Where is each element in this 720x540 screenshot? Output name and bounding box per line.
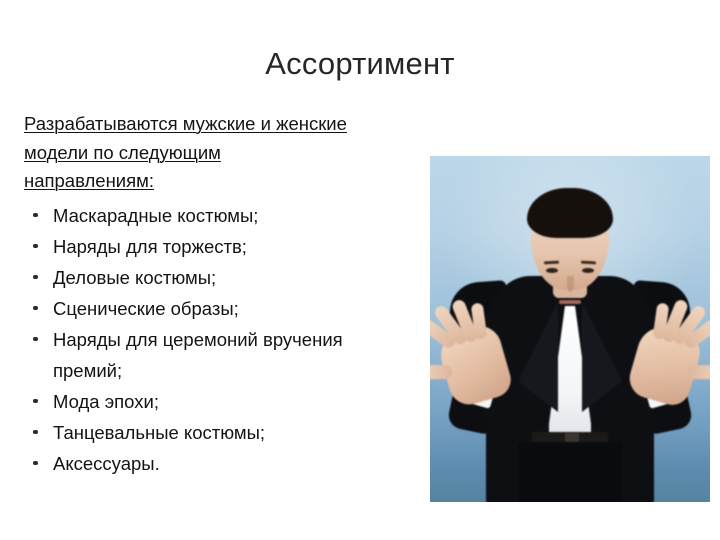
list-item-label: Танцевальные костюмы; — [53, 422, 265, 443]
photo-subject-man — [430, 156, 710, 502]
list-item-label: Сценические образы; — [53, 298, 239, 319]
subject-eye-right — [582, 268, 594, 273]
subject-mouth — [559, 300, 581, 304]
list-item: Деловые костюмы; — [24, 262, 448, 293]
list-item-label: Наряды для церемоний вручения — [53, 329, 343, 350]
subject-eyebrow-left — [544, 261, 559, 265]
subject-thumb — [430, 365, 452, 379]
presentation-slide: Ассортимент Разрабатываются мужские и же… — [0, 0, 720, 540]
list-item-label-wrap: премий; — [53, 355, 448, 386]
list-item-label: Наряды для торжеств; — [53, 236, 247, 257]
intro-line-1: Разрабатываются мужские и женские — [24, 110, 448, 139]
subject-thumb — [688, 365, 710, 379]
list-item: Маскарадные костюмы; — [24, 200, 448, 231]
assortment-bullet-list: Маскарадные костюмы; Наряды для торжеств… — [24, 200, 448, 479]
subject-hair — [527, 188, 613, 238]
subject-nose — [567, 276, 574, 292]
page-title: Ассортимент — [0, 46, 720, 82]
slide-body-column: Разрабатываются мужские и женские модели… — [24, 110, 448, 479]
subject-eyebrow-right — [581, 261, 596, 265]
list-item: Танцевальные костюмы; — [24, 417, 448, 448]
list-item: Наряды для торжеств; — [24, 231, 448, 262]
list-item-label: Деловые костюмы; — [53, 267, 216, 288]
intro-line-3: направлениям: — [24, 167, 448, 196]
slide-photo — [430, 156, 710, 502]
subject-eye-left — [546, 268, 558, 273]
list-item: Наряды для церемоний вручения премий; — [24, 324, 448, 386]
list-item-label: Мода эпохи; — [53, 391, 159, 412]
list-item: Мода эпохи; — [24, 386, 448, 417]
list-item: Сценические образы; — [24, 293, 448, 324]
intro-line-2: модели по следующим — [24, 139, 448, 168]
list-item: Аксессуары. — [24, 448, 448, 479]
subject-trousers — [518, 442, 622, 502]
intro-paragraph: Разрабатываются мужские и женские модели… — [24, 110, 448, 196]
list-item-label: Аксессуары. — [53, 453, 160, 474]
list-item-label: Маскарадные костюмы; — [53, 205, 258, 226]
